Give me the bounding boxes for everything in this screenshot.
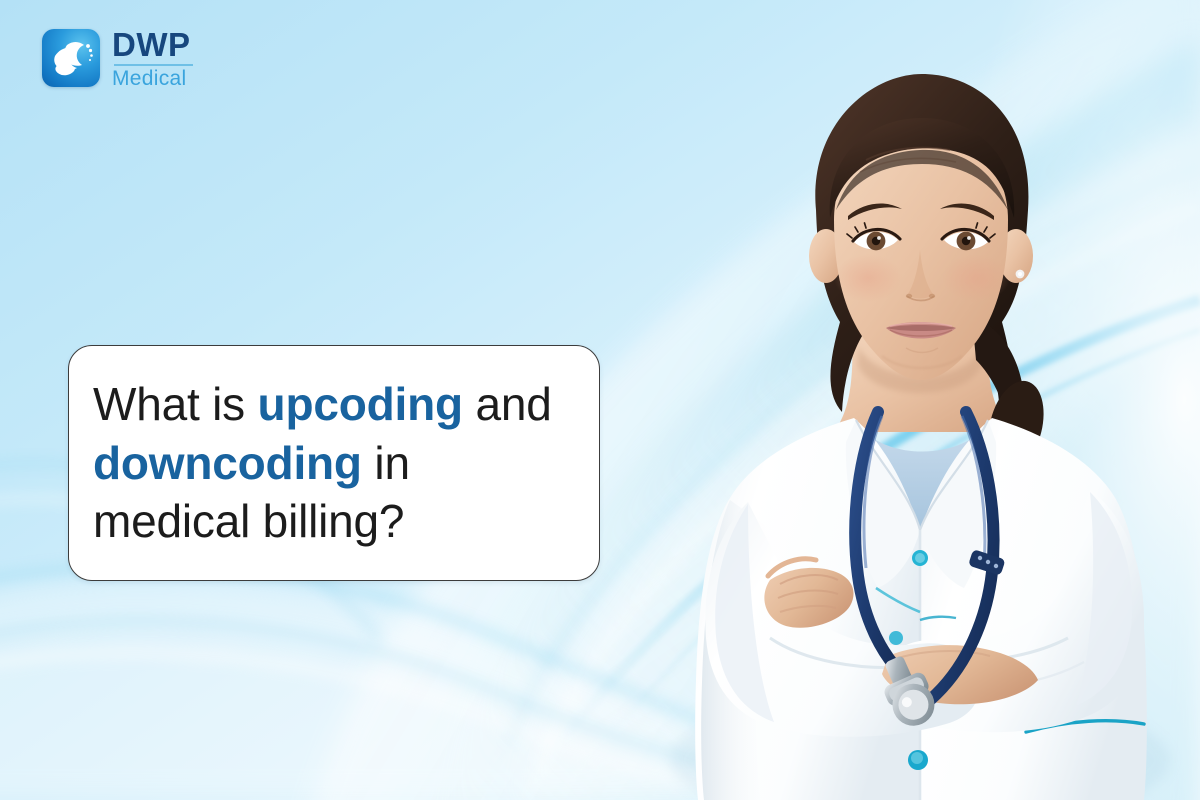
banner-canvas: DWP Medical xyxy=(0,0,1200,800)
headline-line1-tail: and xyxy=(463,378,552,430)
headline-line3: medical billing? xyxy=(93,495,404,547)
brand-logo[interactable]: DWP Medical xyxy=(42,28,191,89)
headline-text: What is upcoding and downcoding in medic… xyxy=(93,375,573,552)
headline-emphasis-downcoding: downcoding xyxy=(93,437,362,489)
dwp-logo-icon xyxy=(42,29,100,87)
headline-line2-tail: in xyxy=(362,437,410,489)
brand-wordmark: DWP Medical xyxy=(112,28,191,89)
headline-line1-lead: What is xyxy=(93,378,258,430)
brand-name-primary: DWP xyxy=(112,28,191,61)
headline-card: What is upcoding and downcoding in medic… xyxy=(68,345,600,581)
doctor-photo xyxy=(620,60,1200,800)
brand-divider xyxy=(114,64,193,66)
brand-name-secondary: Medical xyxy=(112,68,191,89)
headline-emphasis-upcoding: upcoding xyxy=(258,378,463,430)
